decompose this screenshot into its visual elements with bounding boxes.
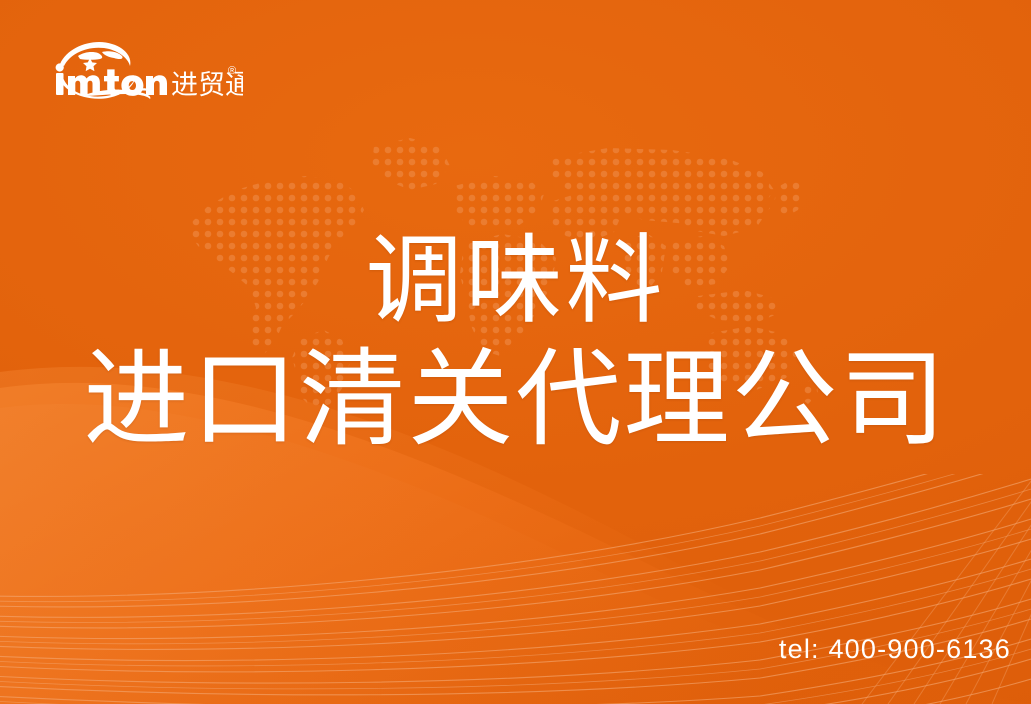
headline-line-2: 进口清关代理公司: [0, 338, 1031, 462]
globe-swoosh-logo: 进贸通 ®: [38, 36, 243, 104]
headline-block: 调味料 进口清关代理公司: [0, 224, 1031, 462]
fanned-line-texture: [0, 474, 1031, 704]
headline-line-1: 调味料: [0, 224, 1031, 338]
company-logo[interactable]: 进贸通 ®: [38, 36, 243, 104]
promotional-banner: 进贸通 ® 调味料 进口清关代理公司 tel: 400-900-6136: [0, 0, 1031, 704]
registered-trademark-icon: ®: [228, 65, 236, 77]
telephone-text: tel: 400-900-6136: [779, 632, 1011, 666]
